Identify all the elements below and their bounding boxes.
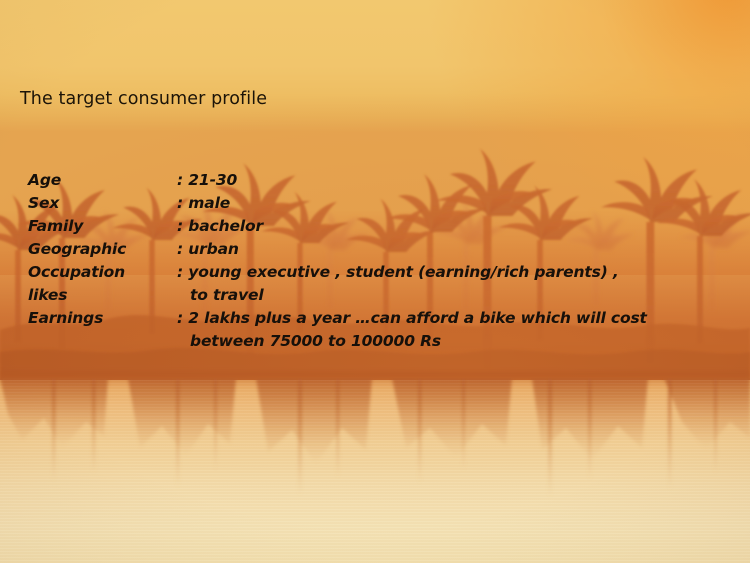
row-label-earnings: Earnings bbox=[28, 307, 177, 330]
table-row: Age : 21-30 bbox=[28, 169, 718, 192]
row-value-earnings-continued: between 75000 to 100000 Rs bbox=[177, 330, 441, 353]
row-label-family: Family bbox=[28, 215, 177, 238]
table-row: between 75000 to 100000 Rs bbox=[28, 330, 718, 353]
presentation-slide: The target consumer profile Age : 21-30 … bbox=[0, 0, 750, 563]
row-value-earnings: : 2 lakhs plus a year …can afford a bike… bbox=[177, 307, 718, 330]
row-label-occupation: Occupation bbox=[28, 261, 177, 284]
table-row: Geographic : urban bbox=[28, 238, 718, 261]
row-value-sex: : male bbox=[177, 192, 718, 215]
row-label-geographic: Geographic bbox=[28, 238, 177, 261]
table-row: likes to travel bbox=[28, 284, 718, 307]
row-value-geographic: : urban bbox=[177, 238, 718, 261]
table-row: Earnings : 2 lakhs plus a year …can affo… bbox=[28, 307, 718, 330]
row-label-likes: likes bbox=[28, 284, 177, 307]
row-label-sex: Sex bbox=[28, 192, 177, 215]
row-label-earnings-continued bbox=[28, 330, 177, 353]
consumer-profile-table: Age : 21-30 Sex : male Family : bachelor… bbox=[28, 169, 718, 353]
row-label-age: Age bbox=[28, 169, 177, 192]
table-row: Family : bachelor bbox=[28, 215, 718, 238]
row-value-likes: to travel bbox=[177, 284, 264, 307]
row-value-occupation: : young executive , student (earning/ric… bbox=[177, 261, 718, 284]
row-value-age: : 21-30 bbox=[177, 169, 718, 192]
slide-content: The target consumer profile Age : 21-30 … bbox=[0, 0, 750, 563]
page-title: The target consumer profile bbox=[20, 89, 267, 109]
table-row: Sex : male bbox=[28, 192, 718, 215]
row-value-family: : bachelor bbox=[177, 215, 718, 238]
table-row: Occupation : young executive , student (… bbox=[28, 261, 718, 284]
